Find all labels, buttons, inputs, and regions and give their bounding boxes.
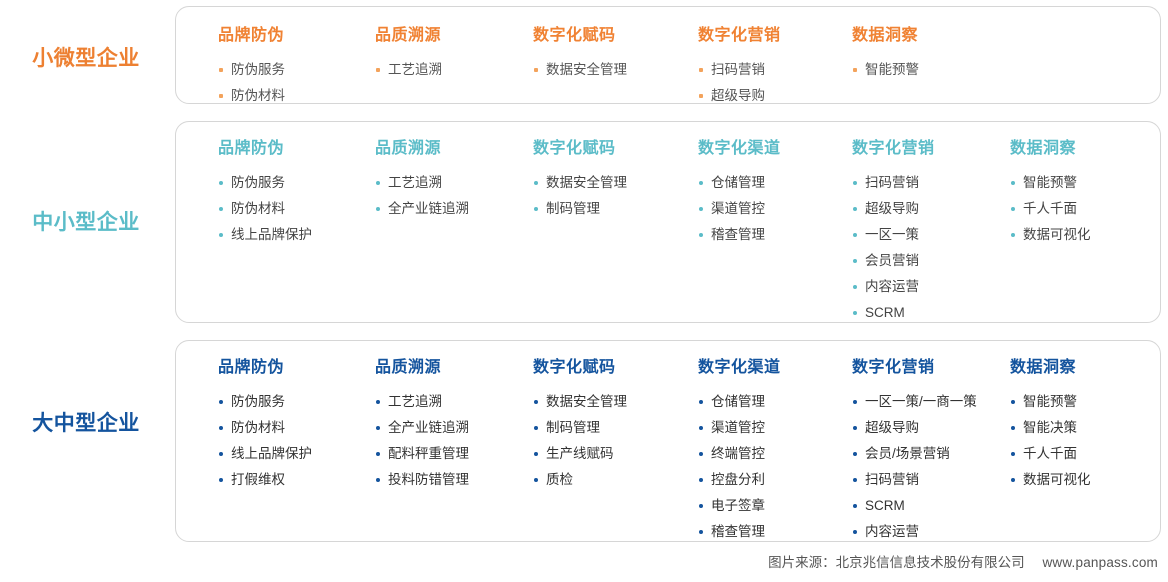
category-column: 数字化营销一区一策/一商一策超级导购会员/场景营销扫码营销SCRM内容运营 <box>852 353 977 545</box>
feature-item[interactable]: 千人千面 <box>1010 196 1091 222</box>
feature-item[interactable]: 电子签章 <box>698 493 781 519</box>
feature-item[interactable]: 配料秤重管理 <box>375 441 469 467</box>
feature-item[interactable]: 一区一策/一商一策 <box>852 389 977 415</box>
category-title[interactable]: 数字化营销 <box>852 353 977 377</box>
feature-item[interactable]: 千人千面 <box>1010 441 1091 467</box>
tier-card-large-medium: 品牌防伪防伪服务防伪材料线上品牌保护打假维权品质溯源工艺追溯全产业链追溯配料秤重… <box>175 340 1161 542</box>
category-column: 数据洞察智能预警 <box>852 21 919 83</box>
feature-item[interactable]: 超级导购 <box>852 415 977 441</box>
category-column: 数字化赋码数据安全管理 <box>533 21 627 83</box>
feature-item[interactable]: 智能预警 <box>852 57 919 83</box>
feature-item[interactable]: 数据安全管理 <box>533 389 627 415</box>
column-container: 品牌防伪防伪服务防伪材料线上品牌保护打假维权品质溯源工艺追溯全产业链追溯配料秤重… <box>176 341 1160 541</box>
feature-list: 智能预警千人千面数据可视化 <box>1010 170 1091 248</box>
feature-list: 一区一策/一商一策超级导购会员/场景营销扫码营销SCRM内容运营 <box>852 389 977 545</box>
feature-item[interactable]: 会员/场景营销 <box>852 441 977 467</box>
feature-item[interactable]: 防伪服务 <box>218 170 312 196</box>
feature-item[interactable]: 终端管控 <box>698 441 781 467</box>
category-column: 品牌防伪防伪服务防伪材料线上品牌保护打假维权 <box>218 353 312 493</box>
category-column: 品质溯源工艺追溯全产业链追溯配料秤重管理投料防错管理 <box>375 353 469 493</box>
feature-item[interactable]: 全产业链追溯 <box>375 415 469 441</box>
footer-website: www.panpass.com <box>1042 555 1158 570</box>
feature-item[interactable]: 防伪材料 <box>218 83 285 109</box>
feature-list: 防伪服务防伪材料线上品牌保护 <box>218 170 312 248</box>
feature-item[interactable]: 质检 <box>533 467 627 493</box>
feature-item[interactable]: 控盘分利 <box>698 467 781 493</box>
feature-item[interactable]: 稽查管理 <box>698 222 781 248</box>
category-column: 品牌防伪防伪服务防伪材料线上品牌保护 <box>218 134 312 248</box>
column-container: 品牌防伪防伪服务防伪材料品质溯源工艺追溯数字化赋码数据安全管理数字化营销扫码营销… <box>176 7 1160 103</box>
category-column: 数据洞察智能预警千人千面数据可视化 <box>1010 134 1091 248</box>
feature-item[interactable]: 工艺追溯 <box>375 389 469 415</box>
feature-list: 数据安全管理制码管理 <box>533 170 627 222</box>
feature-item[interactable]: 制码管理 <box>533 415 627 441</box>
category-title[interactable]: 品牌防伪 <box>218 134 312 158</box>
feature-item[interactable]: 工艺追溯 <box>375 57 442 83</box>
feature-item[interactable]: 智能预警 <box>1010 389 1091 415</box>
feature-item[interactable]: 数据安全管理 <box>533 170 627 196</box>
category-title[interactable]: 数字化营销 <box>852 134 935 158</box>
tier-label-large-medium: 大中型企业 <box>0 407 172 437</box>
category-title[interactable]: 品牌防伪 <box>218 353 312 377</box>
feature-item[interactable]: 打假维权 <box>218 467 312 493</box>
feature-list: 仓储管理渠道管控稽查管理 <box>698 170 781 248</box>
category-column: 数字化渠道仓储管理渠道管控终端管控控盘分利电子签章稽查管理 <box>698 353 781 545</box>
feature-item[interactable]: 智能预警 <box>1010 170 1091 196</box>
feature-item[interactable]: 防伪服务 <box>218 389 312 415</box>
category-title[interactable]: 数字化赋码 <box>533 21 627 45</box>
category-column: 品牌防伪防伪服务防伪材料 <box>218 21 285 109</box>
feature-item[interactable]: 超级导购 <box>698 83 781 109</box>
feature-item[interactable]: 一区一策 <box>852 222 935 248</box>
column-container: 品牌防伪防伪服务防伪材料线上品牌保护品质溯源工艺追溯全产业链追溯数字化赋码数据安… <box>176 122 1160 322</box>
feature-item[interactable]: 数据可视化 <box>1010 467 1091 493</box>
feature-item[interactable]: 渠道管控 <box>698 196 781 222</box>
feature-item[interactable]: 全产业链追溯 <box>375 196 469 222</box>
feature-list: 扫码营销超级导购一区一策会员营销内容运营SCRM <box>852 170 935 326</box>
feature-item[interactable]: 生产线赋码 <box>533 441 627 467</box>
feature-item[interactable]: 投料防错管理 <box>375 467 469 493</box>
category-title[interactable]: 数字化赋码 <box>533 353 627 377</box>
feature-item[interactable]: 线上品牌保护 <box>218 441 312 467</box>
category-title[interactable]: 数字化渠道 <box>698 353 781 377</box>
footer-source: 图片来源：北京兆信信息技术股份有限公司 <box>768 555 1025 570</box>
footer: 图片来源：北京兆信信息技术股份有限公司 www.panpass.com <box>0 551 1158 571</box>
feature-list: 工艺追溯全产业链追溯配料秤重管理投料防错管理 <box>375 389 469 493</box>
feature-item[interactable]: 制码管理 <box>533 196 627 222</box>
category-title[interactable]: 品质溯源 <box>375 134 469 158</box>
tier-label-small-micro: 小微型企业 <box>0 42 172 72</box>
tier-card-small-medium: 品牌防伪防伪服务防伪材料线上品牌保护品质溯源工艺追溯全产业链追溯数字化赋码数据安… <box>175 121 1161 323</box>
category-column: 数字化营销扫码营销超级导购一区一策会员营销内容运营SCRM <box>852 134 935 326</box>
feature-item[interactable]: 数据可视化 <box>1010 222 1091 248</box>
feature-list: 防伪服务防伪材料线上品牌保护打假维权 <box>218 389 312 493</box>
category-column: 数据洞察智能预警智能决策千人千面数据可视化 <box>1010 353 1091 493</box>
feature-item[interactable]: 超级导购 <box>852 196 935 222</box>
category-title[interactable]: 数据洞察 <box>1010 353 1091 377</box>
category-title[interactable]: 数据洞察 <box>1010 134 1091 158</box>
feature-item[interactable]: 数据安全管理 <box>533 57 627 83</box>
category-title[interactable]: 数据洞察 <box>852 21 919 45</box>
feature-item[interactable]: 内容运营 <box>852 274 935 300</box>
feature-list: 数据安全管理制码管理生产线赋码质检 <box>533 389 627 493</box>
category-title[interactable]: 品质溯源 <box>375 21 442 45</box>
feature-item[interactable]: 智能决策 <box>1010 415 1091 441</box>
feature-item[interactable]: 会员营销 <box>852 248 935 274</box>
feature-item[interactable]: 仓储管理 <box>698 389 781 415</box>
feature-item[interactable]: 仓储管理 <box>698 170 781 196</box>
category-column: 数字化赋码数据安全管理制码管理 <box>533 134 627 222</box>
category-title[interactable]: 品质溯源 <box>375 353 469 377</box>
category-column: 品质溯源工艺追溯 <box>375 21 442 83</box>
feature-list: 智能预警 <box>852 57 919 83</box>
category-column: 数字化赋码数据安全管理制码管理生产线赋码质检 <box>533 353 627 493</box>
feature-item[interactable]: 渠道管控 <box>698 415 781 441</box>
feature-list: 数据安全管理 <box>533 57 627 83</box>
feature-list: 智能预警智能决策千人千面数据可视化 <box>1010 389 1091 493</box>
feature-item[interactable]: 防伪材料 <box>218 415 312 441</box>
feature-item[interactable]: 线上品牌保护 <box>218 222 312 248</box>
category-title[interactable]: 数字化营销 <box>698 21 781 45</box>
category-title[interactable]: 品牌防伪 <box>218 21 285 45</box>
category-column: 数字化渠道仓储管理渠道管控稽查管理 <box>698 134 781 248</box>
tier-card-small-micro: 品牌防伪防伪服务防伪材料品质溯源工艺追溯数字化赋码数据安全管理数字化营销扫码营销… <box>175 6 1161 104</box>
feature-item[interactable]: SCRM <box>852 493 977 519</box>
feature-list: 扫码营销超级导购 <box>698 57 781 109</box>
feature-item[interactable]: 扫码营销 <box>852 467 977 493</box>
tier-label-small-medium: 中小型企业 <box>0 206 172 236</box>
feature-item[interactable]: 防伪材料 <box>218 196 312 222</box>
feature-list: 防伪服务防伪材料 <box>218 57 285 109</box>
feature-list: 工艺追溯全产业链追溯 <box>375 170 469 222</box>
feature-item[interactable]: SCRM <box>852 300 935 326</box>
category-title[interactable]: 数字化渠道 <box>698 134 781 158</box>
feature-list: 仓储管理渠道管控终端管控控盘分利电子签章稽查管理 <box>698 389 781 545</box>
feature-item[interactable]: 防伪服务 <box>218 57 285 83</box>
category-column: 数字化营销扫码营销超级导购 <box>698 21 781 109</box>
feature-item[interactable]: 扫码营销 <box>852 170 935 196</box>
category-title[interactable]: 数字化赋码 <box>533 134 627 158</box>
feature-list: 工艺追溯 <box>375 57 442 83</box>
feature-item[interactable]: 工艺追溯 <box>375 170 469 196</box>
feature-item[interactable]: 扫码营销 <box>698 57 781 83</box>
feature-item[interactable]: 内容运营 <box>852 519 977 545</box>
category-column: 品质溯源工艺追溯全产业链追溯 <box>375 134 469 222</box>
feature-item[interactable]: 稽查管理 <box>698 519 781 545</box>
